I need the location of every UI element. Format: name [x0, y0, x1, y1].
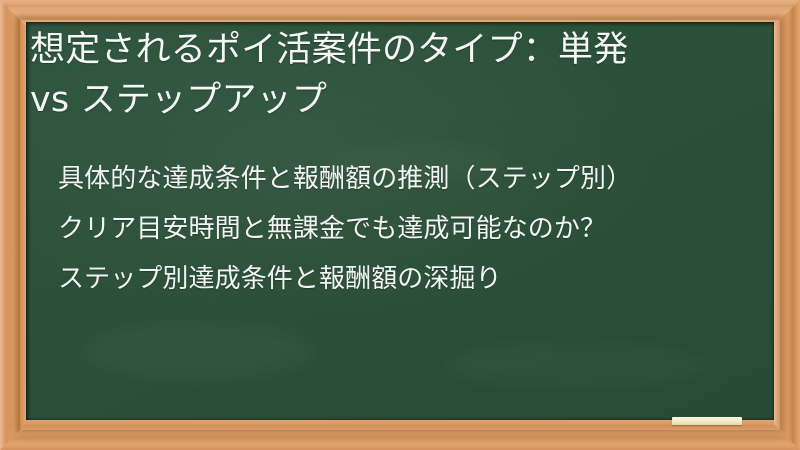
bullet-item: ステップ別達成条件と報酬額の深掘り	[58, 254, 770, 304]
bullet-item: クリア目安時間と無課金でも達成可能なのか？	[58, 204, 770, 254]
slide-bullet-list: 具体的な達成条件と報酬額の推測（ステップ別） クリア目安時間と無課金でも達成可能…	[58, 154, 770, 304]
chalk-stick	[672, 417, 742, 425]
frame-rail-right	[774, 0, 800, 450]
board-content: 想定されるポイ活案件のタイプ：単発 vs ステップアップ 具体的な達成条件と報酬…	[26, 22, 774, 420]
bullet-item: 具体的な達成条件と報酬額の推測（ステップ別）	[58, 154, 770, 204]
chalkboard-slide: 想定されるポイ活案件のタイプ：単発 vs ステップアップ 具体的な達成条件と報酬…	[0, 0, 800, 450]
slide-title: 想定されるポイ活案件のタイプ：単発 vs ステップアップ	[30, 25, 774, 125]
frame-rail-left	[0, 0, 26, 450]
